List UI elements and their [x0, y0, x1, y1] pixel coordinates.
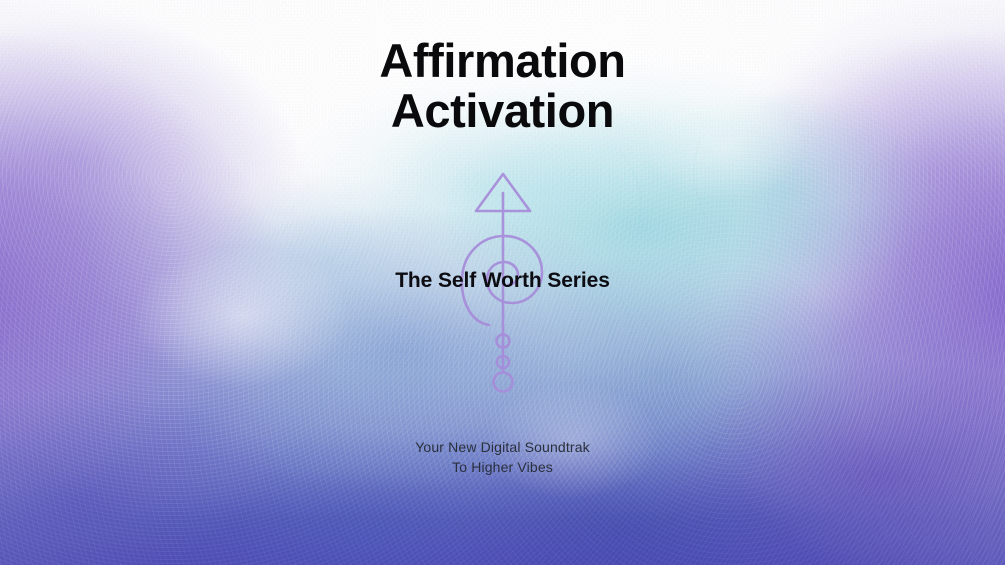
page-title: Affirmation Activation	[0, 36, 1005, 136]
sigil-circle-large	[494, 373, 513, 392]
series-subtitle: The Self Worth Series	[0, 269, 1005, 293]
tagline-text: Your New Digital Soundtrak To Higher Vib…	[0, 437, 1005, 478]
slide-canvas: Affirmation Activation The Self Worth Se…	[0, 0, 1005, 565]
